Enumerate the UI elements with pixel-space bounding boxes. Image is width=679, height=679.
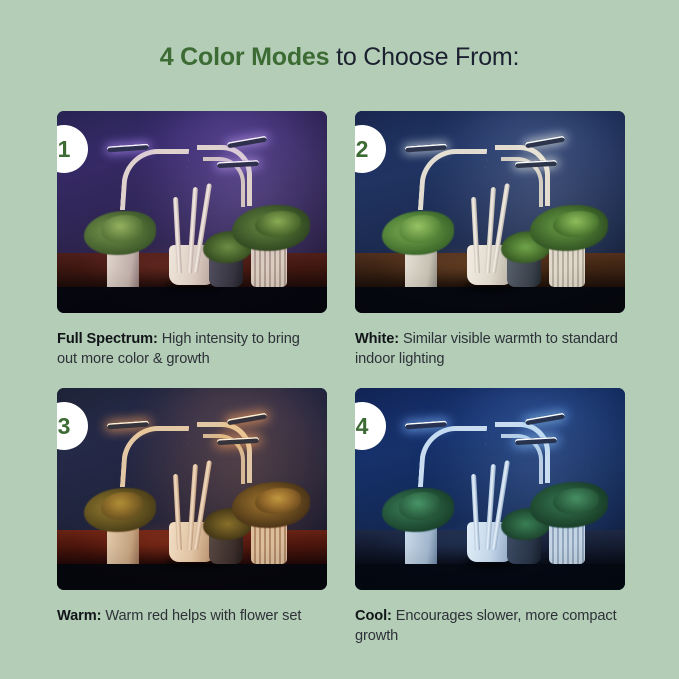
infographic-page: 4 Color Modes to Choose From: [0, 0, 679, 679]
card-caption-3: Warm: Warm red helps with flower set [57, 607, 323, 627]
scene [57, 111, 327, 313]
plant-pot-right [549, 522, 585, 564]
plant-pot-left [405, 528, 437, 564]
card-caption-body-4: Encourages slower, more compact growth [355, 608, 617, 644]
color-mode-card-1: 1 Full Spectrum: High intensity to bring… [57, 111, 327, 369]
color-mode-card-4: 4 Cool: Encourages slower, more compact … [355, 388, 625, 646]
page-title-highlight: 4 Color Modes [160, 43, 330, 71]
card-caption-label-4: Cool: [355, 608, 392, 624]
color-modes-grid: 1 Full Spectrum: High intensity to bring… [57, 111, 625, 648]
card-caption-body-3: Warm red helps with flower set [101, 608, 301, 624]
card-caption-2: White: Similar visible warmth to standar… [355, 330, 621, 369]
card-caption-4: Cool: Encourages slower, more compact gr… [355, 607, 621, 646]
card-caption-label-2: White: [355, 331, 399, 347]
scene [355, 111, 625, 313]
plant-pot-left [405, 251, 437, 287]
plant-pot-left [107, 251, 139, 287]
plant-pot-right [251, 245, 287, 287]
grow-light-full-spectrum-photo: 1 [57, 111, 327, 313]
color-mode-card-3: 3 Warm: Warm red helps with flower set [57, 388, 327, 627]
page-title-rest: to Choose From: [329, 43, 519, 71]
card-caption-label-3: Warm: [57, 608, 101, 624]
plant-pot-right [251, 522, 287, 564]
color-mode-card-2: 2 White: Similar visible warmth to stand… [355, 111, 625, 369]
card-caption-1: Full Spectrum: High intensity to bring o… [57, 330, 323, 369]
scene [355, 388, 625, 590]
scene [57, 388, 327, 590]
grow-light-cool-photo: 4 [355, 388, 625, 590]
grow-light-warm-photo: 3 [57, 388, 327, 590]
plant-pot-right [549, 245, 585, 287]
page-title: 4 Color Modes to Choose From: [0, 40, 679, 74]
card-caption-label-1: Full Spectrum: [57, 331, 158, 347]
grow-light-white-photo: 2 [355, 111, 625, 313]
plant-pot-left [107, 528, 139, 564]
